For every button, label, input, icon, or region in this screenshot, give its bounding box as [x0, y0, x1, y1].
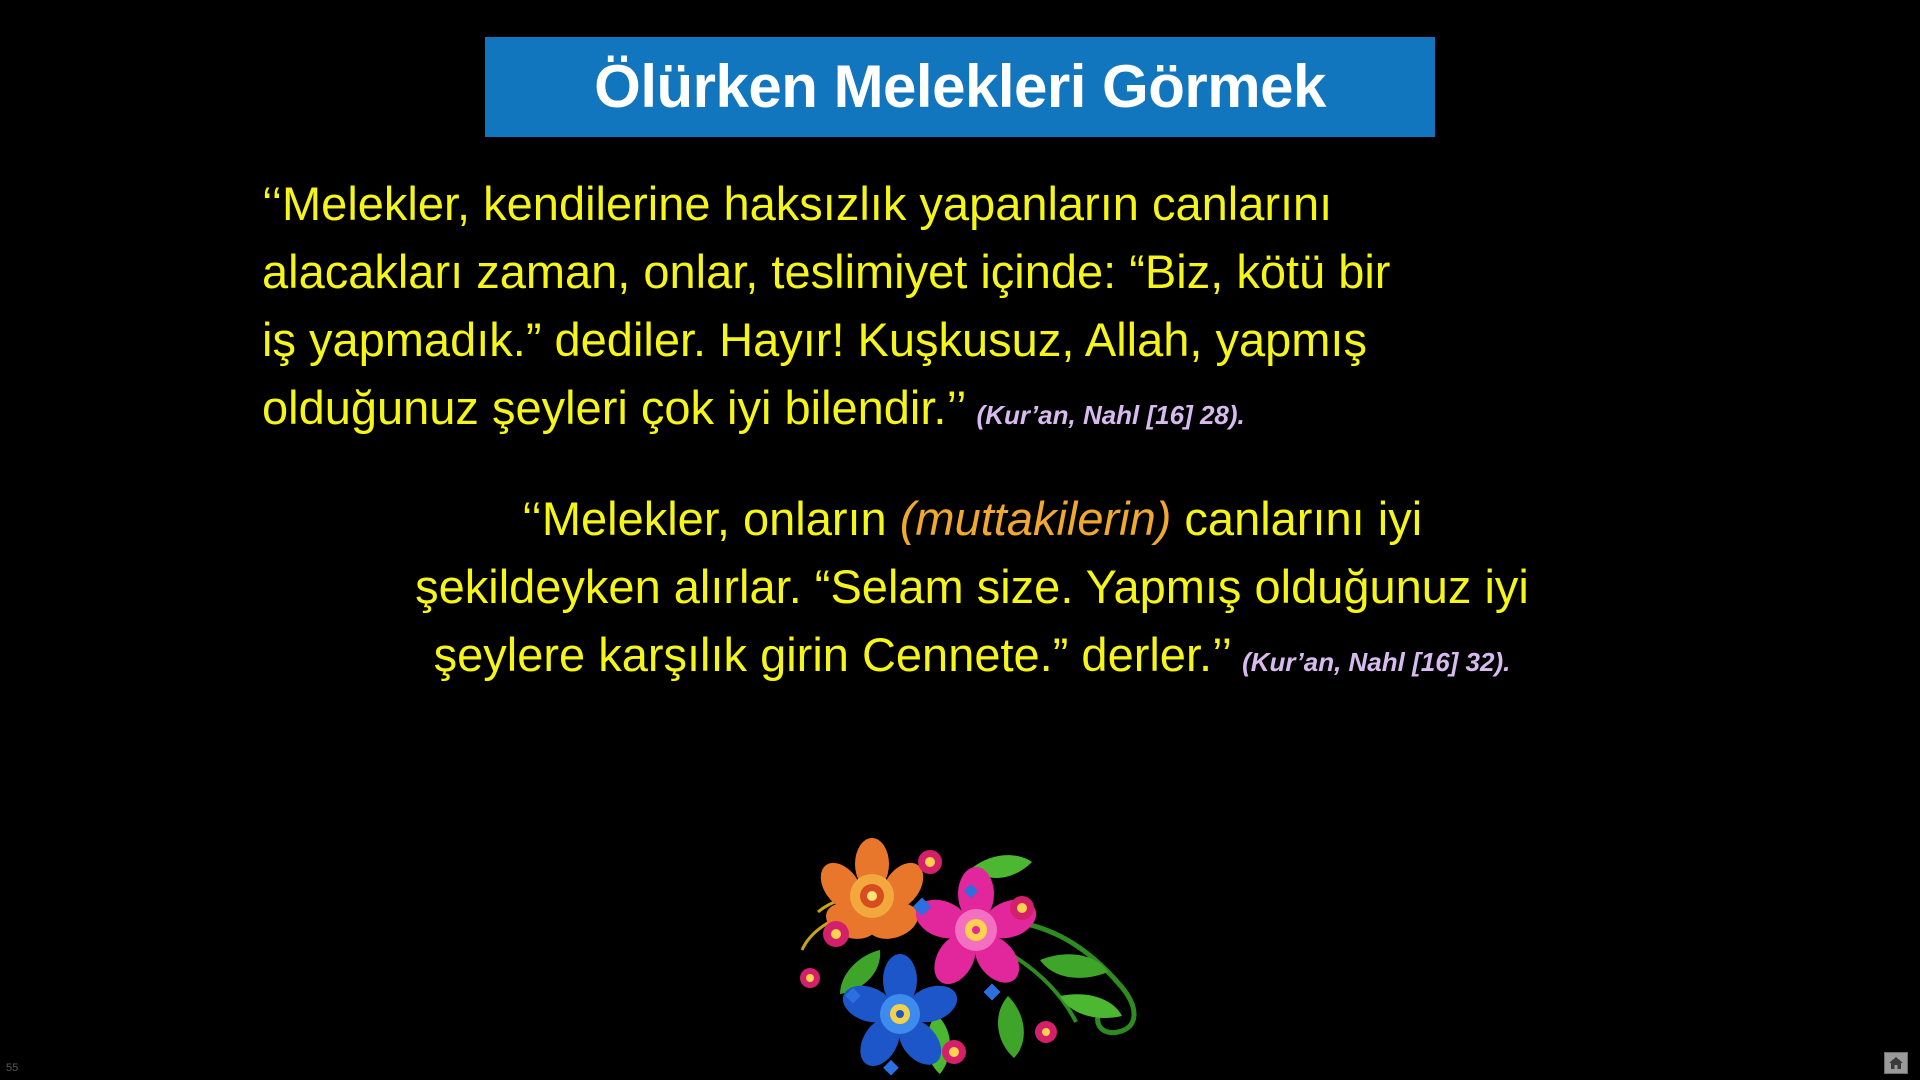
quote-two-citation: (Kur’an, Nahl [16] 32).	[1232, 647, 1510, 677]
slide-number: 55	[6, 1062, 18, 1074]
quote-one-line-2: alacakları zaman, onlar, teslimiyet için…	[262, 238, 1662, 306]
quote-block-one: ‘‘Melekler, kendilerine haksızlık yapanl…	[262, 170, 1662, 449]
quote-two-line-1-before: ‘‘Melekler, onların	[522, 492, 900, 545]
home-icon[interactable]	[1884, 1052, 1908, 1074]
quote-one-line-4: olduğunuz şeyleri çok iyi bilendir.’’(Ku…	[262, 374, 1662, 449]
quote-block-two: ‘‘Melekler, onların (muttakilerin) canla…	[262, 485, 1682, 696]
quote-two-line-2: şekildeyken alırlar. “Selam size. Yapmış…	[262, 553, 1682, 621]
quote-two-emphasis: (muttakilerin)	[900, 492, 1172, 545]
quote-two-line-1: ‘‘Melekler, onların (muttakilerin) canla…	[262, 485, 1682, 553]
presentation-slide: Ölürken Melekleri Görmek ‘‘Melekler, ken…	[0, 0, 1920, 1080]
page-title: Ölürken Melekleri Görmek	[594, 57, 1326, 117]
quote-one-citation: (Kur’an, Nahl [16] 28).	[967, 400, 1245, 430]
quote-one-line-1: ‘‘Melekler, kendilerine haksızlık yapanl…	[262, 170, 1662, 238]
quote-two-line-3: şeylere karşılık girin Cennete.” derler.…	[262, 621, 1682, 696]
quote-one-line-3: iş yapmadık.” dediler. Hayır! Kuşkusuz, …	[262, 306, 1662, 374]
quote-one-line-4-text: olduğunuz şeyleri çok iyi bilendir.’’	[262, 381, 967, 434]
title-banner: Ölürken Melekleri Görmek	[485, 37, 1435, 137]
quote-two-line-1-after: canlarını iyi	[1171, 492, 1422, 545]
floral-ornament-icon	[740, 800, 1180, 1080]
quote-two-line-3-text: şeylere karşılık girin Cennete.” derler.…	[434, 628, 1232, 681]
